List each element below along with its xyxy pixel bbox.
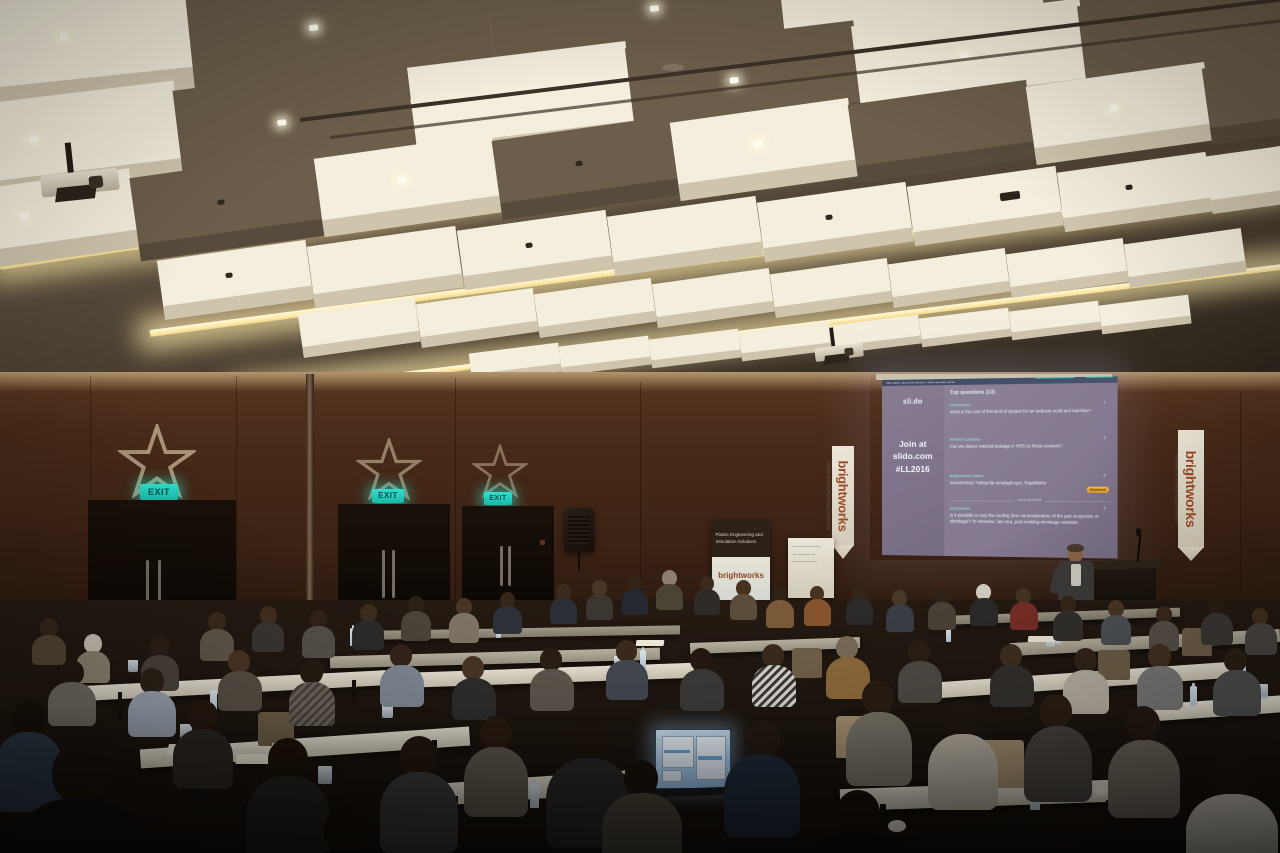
laptop-display (656, 730, 730, 788)
question-author: Mehmet Leblebici (950, 437, 1111, 442)
question-item[interactable]: 6 anonymous What is the cost of this kin… (950, 401, 1111, 415)
table-leg (118, 692, 122, 720)
ceiling-panel (907, 166, 1063, 242)
projector (812, 325, 855, 356)
projection-screen: Information about the session / slido op… (882, 376, 1118, 558)
questions-divider-label: Latest questions (1014, 498, 1045, 502)
ceiling-panel (607, 196, 763, 272)
join-instructions: Join at slido.com #LL2016 (893, 438, 933, 475)
presenter-shirt-front (1071, 564, 1081, 586)
drinking-glass (128, 660, 138, 672)
wall-column (306, 374, 314, 610)
ceiling (0, 0, 1280, 400)
question-text: Sensörümüz Türkiye'de sıradaylmıyor, Teş… (950, 480, 1111, 487)
coffee-cup (1094, 786, 1108, 796)
wall-outlet (540, 540, 545, 545)
slide-left-panel: sli.do Join at slido.com #LL2016 (882, 385, 944, 556)
pennant-banner: brightworks enabling manufacturing excel… (832, 446, 854, 546)
table-leg (352, 680, 356, 706)
projector (37, 134, 153, 211)
ceiling-panel (919, 308, 1011, 345)
questions-heading: Top questions (13) (950, 389, 995, 396)
pa-speaker (564, 508, 594, 552)
ceiling-panel (1009, 301, 1101, 338)
ceiling-panel (559, 336, 651, 373)
ceiling-panel (757, 182, 913, 258)
question-item[interactable]: 6 Brightworks Admin Sensörümüz Türkiye'd… (950, 474, 1111, 486)
question-item[interactable]: 6 Mehmet Leblebici Can we detect materia… (950, 437, 1111, 450)
vote-count[interactable]: 6 (1103, 435, 1106, 440)
exit-sign: EXIT (484, 492, 512, 505)
ceiling-panel (534, 278, 656, 334)
ceiling-panel (770, 258, 892, 314)
presenter-hair (1067, 544, 1084, 552)
question-author: Brightworks Admin (950, 474, 1111, 478)
drinking-glass (318, 766, 332, 784)
answered-badge: Answered (1086, 487, 1109, 493)
vote-count[interactable]: 6 (1103, 472, 1106, 477)
pennant-banner: brightworks enabling manufacturing excel… (1178, 430, 1204, 548)
exit-sign: EXIT (372, 489, 404, 503)
smoke-detector-icon (662, 64, 684, 71)
laptop[interactable] (654, 728, 732, 790)
water-bottle (530, 782, 539, 808)
note-paper (636, 640, 665, 646)
question-item[interactable]: 6 anonymous Is it possible to vary the c… (950, 506, 1111, 525)
coffee-cup (888, 820, 906, 832)
slido-logo: sli.do (903, 399, 923, 406)
question-text: What is the cost of this kind of system … (950, 407, 1111, 415)
question-author: anonymous (950, 506, 1111, 511)
question-text: Is it possible to vary the cooling time … (950, 512, 1111, 526)
questions-panel: Top questions (13) 6 anonymous What is t… (944, 383, 1118, 559)
exit-door[interactable] (338, 504, 450, 612)
exit-door[interactable] (462, 506, 554, 602)
vote-count[interactable]: 6 (1103, 399, 1106, 404)
ceiling-panel (1099, 295, 1191, 332)
chair (792, 648, 822, 678)
question-text: Can we detect material leakage in HRS by… (950, 443, 1111, 450)
ceiling-panel (649, 329, 741, 366)
ceiling-panel (888, 248, 1010, 304)
vote-count[interactable]: 6 (1103, 505, 1106, 510)
ceiling-panel (652, 268, 774, 324)
star-decoration (472, 444, 528, 498)
speaker-cable (578, 552, 580, 570)
water-bottle (1190, 686, 1197, 706)
exit-sign: EXIT (140, 484, 178, 500)
microphone (1136, 528, 1141, 536)
mobile-phone[interactable] (1012, 818, 1030, 828)
conference-hall-photo: EXIT EXIT EXIT brightworks enabling manu… (0, 0, 1280, 853)
ceiling-panel (1205, 140, 1280, 210)
ceiling-panel (1057, 152, 1213, 228)
